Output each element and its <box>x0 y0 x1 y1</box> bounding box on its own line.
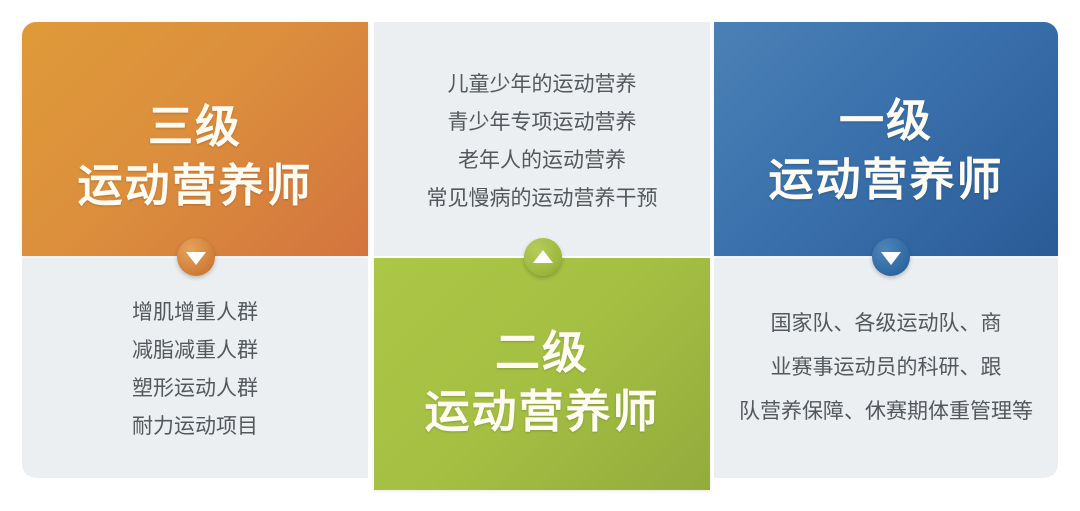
level1-title-line2: 运动营养师 <box>714 153 1058 208</box>
list-item: 增肌增重人群 <box>22 294 368 332</box>
bottom-right-list: 国家队、各级运动队、商 业赛事运动员的科研、跟 队营养保障、休赛期体重管理等 <box>714 302 1058 434</box>
list-item: 队营养保障、休赛期体重管理等 <box>714 390 1058 434</box>
level2-title-line1: 二级 <box>374 326 710 381</box>
list-item: 耐力运动项目 <box>22 408 368 446</box>
top-middle-list-panel: 儿童少年的运动营养 青少年专项运动营养 老年人的运动营养 常见慢病的运动营养干预 <box>374 22 710 256</box>
list-item: 国家队、各级运动队、商 <box>714 302 1058 346</box>
triangle-glyph <box>533 250 553 263</box>
list-item: 青少年专项运动营养 <box>374 104 710 142</box>
top-middle-list: 儿童少年的运动营养 青少年专项运动营养 老年人的运动营养 常见慢病的运动营养干预 <box>374 66 710 218</box>
level2-title-line2: 运动营养师 <box>374 385 710 440</box>
bottom-left-list: 增肌增重人群 减脂减重人群 塑形运动人群 耐力运动项目 <box>22 294 368 446</box>
bottom-left-list-panel: 增肌增重人群 减脂减重人群 塑形运动人群 耐力运动项目 <box>22 258 368 478</box>
level3-title-line2: 运动营养师 <box>22 159 368 214</box>
list-item: 塑形运动人群 <box>22 370 368 408</box>
triangle-glyph <box>881 252 901 265</box>
down-arrow-icon <box>872 238 910 276</box>
down-arrow-icon <box>177 238 215 276</box>
level1-title: 一级 运动营养师 <box>714 94 1058 208</box>
level2-card: 二级 运动营养师 <box>374 258 710 490</box>
level3-title: 三级 运动营养师 <box>22 100 368 214</box>
sports-nutritionist-level-infographic: 三级 运动营养师 儿童少年的运动营养 青少年专项运动营养 老年人的运动营养 常见… <box>0 0 1080 511</box>
bottom-right-list-panel: 国家队、各级运动队、商 业赛事运动员的科研、跟 队营养保障、休赛期体重管理等 <box>714 258 1058 478</box>
level2-title: 二级 运动营养师 <box>374 326 710 440</box>
level3-title-line1: 三级 <box>22 100 368 155</box>
up-arrow-icon <box>524 238 562 276</box>
list-item: 减脂减重人群 <box>22 332 368 370</box>
list-item: 常见慢病的运动营养干预 <box>374 180 710 218</box>
level1-card: 一级 运动营养师 <box>714 22 1058 256</box>
level1-title-line1: 一级 <box>714 94 1058 149</box>
triangle-glyph <box>186 252 206 265</box>
list-item: 儿童少年的运动营养 <box>374 66 710 104</box>
level3-card: 三级 运动营养师 <box>22 22 368 256</box>
list-item: 老年人的运动营养 <box>374 142 710 180</box>
list-item: 业赛事运动员的科研、跟 <box>714 346 1058 390</box>
